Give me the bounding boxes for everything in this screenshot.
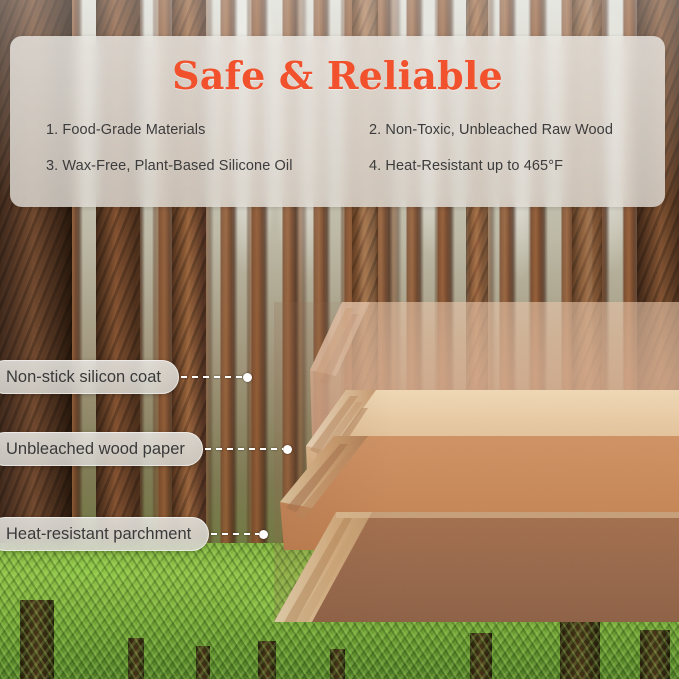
page-title: Safe & Reliable	[10, 53, 665, 98]
trunk-base	[560, 622, 600, 679]
trunk-base	[20, 600, 54, 679]
callout-label: Non-stick silicon coat	[0, 360, 179, 394]
trunk-base	[640, 630, 670, 679]
parchment-liner-product	[250, 250, 679, 630]
callout-non-stick-silicon-coat: Non-stick silicon coat	[0, 360, 252, 394]
leader-dot	[259, 530, 268, 539]
callout-heat-resistant-parchment: Heat-resistant parchment	[0, 517, 268, 551]
callout-label: Heat-resistant parchment	[0, 517, 209, 551]
leader-dot	[283, 445, 292, 454]
feature-item-4: 4. Heat-Resistant up to 465°F	[361, 158, 643, 174]
callout-label: Unbleached wood paper	[0, 432, 203, 466]
leader-line	[181, 376, 243, 378]
feature-item-2: 2. Non-Toxic, Unbleached Raw Wood	[361, 122, 643, 138]
callout-unbleached-wood-paper: Unbleached wood paper	[0, 432, 292, 466]
feature-item-1: 1. Food-Grade Materials	[46, 122, 361, 138]
product-infographic: Safe & Reliable 1. Food-Grade Materials …	[0, 0, 679, 679]
leader-line	[211, 533, 259, 535]
trunk-base	[128, 638, 144, 679]
header-panel: Safe & Reliable 1. Food-Grade Materials …	[10, 36, 665, 207]
trunk-base	[470, 633, 492, 679]
trunk-base	[330, 649, 345, 679]
feature-item-3: 3. Wax-Free, Plant-Based Silicone Oil	[46, 158, 361, 174]
leader-dot	[243, 373, 252, 382]
trunk-base	[196, 646, 210, 679]
leader-line	[205, 448, 283, 450]
feature-list: 1. Food-Grade Materials 2. Non-Toxic, Un…	[46, 122, 643, 174]
trunk-base	[258, 641, 276, 679]
